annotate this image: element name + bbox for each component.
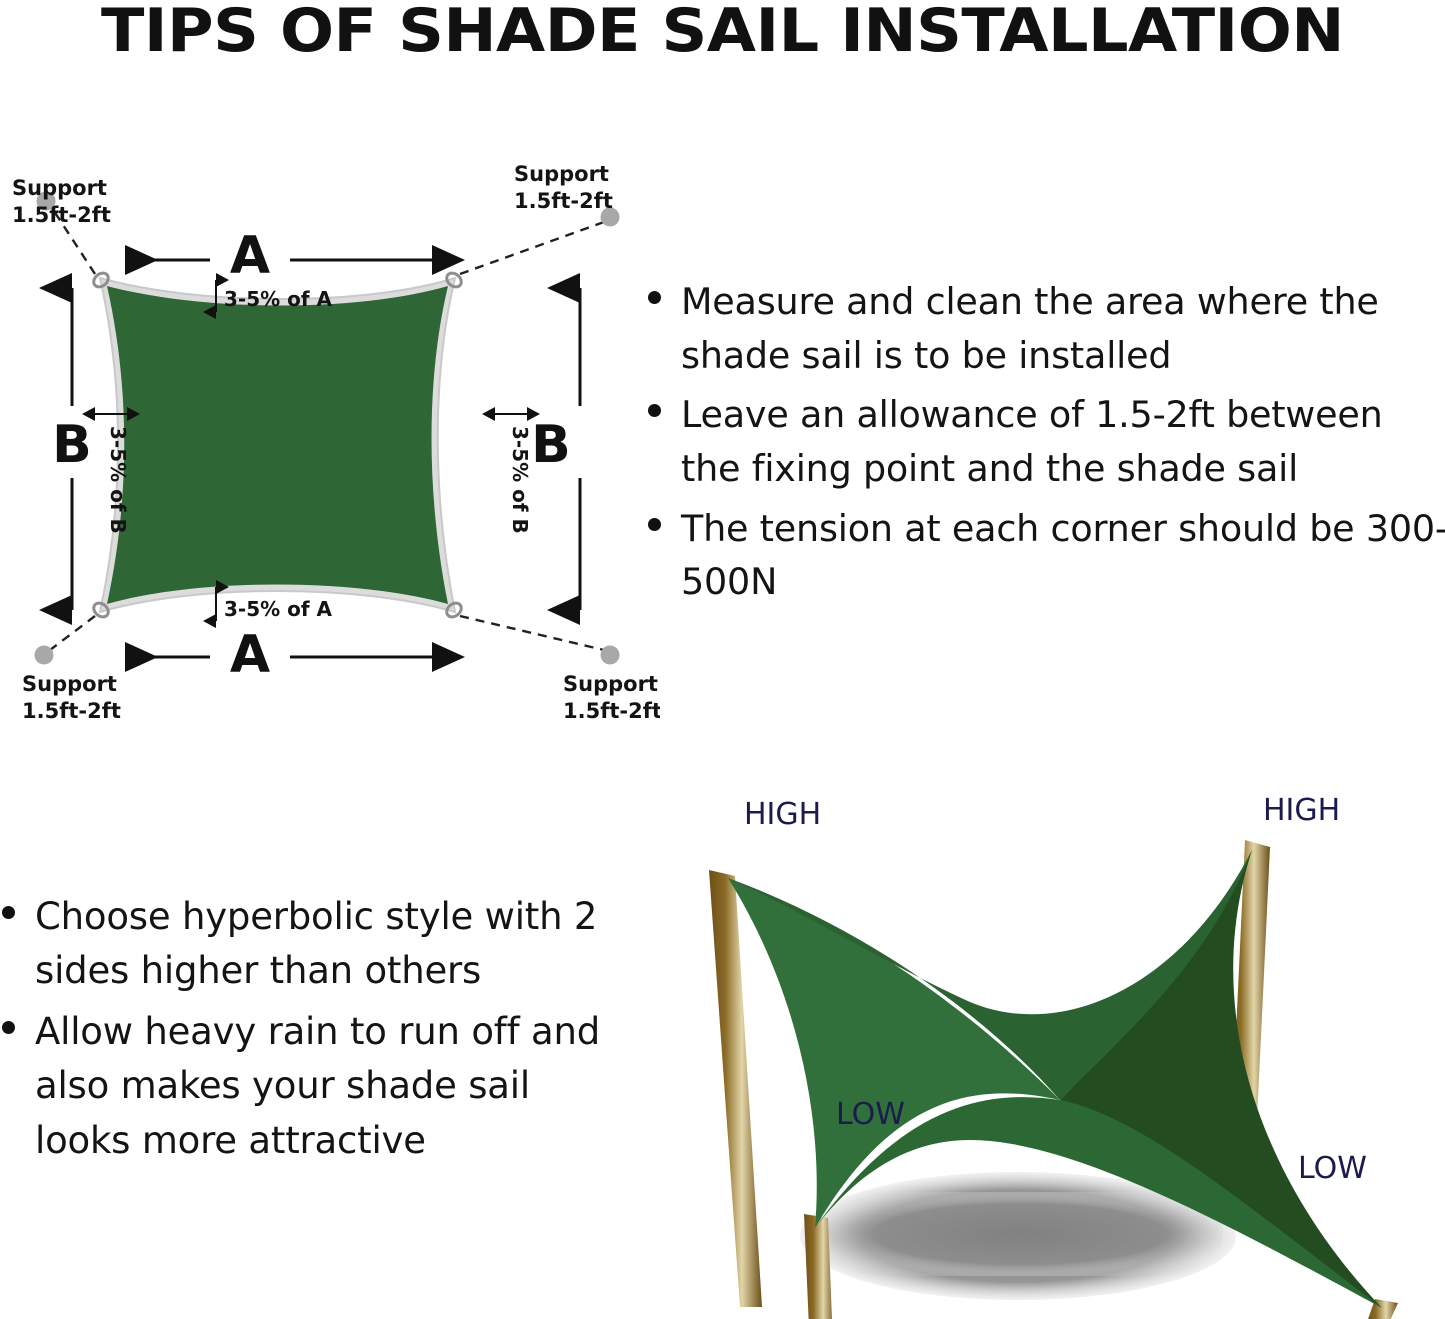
list-item: Leave an allowance of 1.5-2ft between th… xyxy=(648,388,1445,495)
label-high-left: HIGH xyxy=(744,797,821,832)
ground-shadow-body xyxy=(818,1192,1222,1276)
list-item: Measure and clean the area where the sha… xyxy=(648,275,1445,382)
pole-high-left[interactable] xyxy=(709,870,762,1307)
curve-label-top: 3-5% of A xyxy=(224,287,333,311)
support-label-top-left-line1: Support xyxy=(12,176,107,200)
hyperbolic-sail-svg: HIGH HIGH LOW LOW xyxy=(640,780,1445,1319)
curve-label-left: 3-5% of B xyxy=(106,426,130,534)
support-line-bottom-left xyxy=(50,616,95,650)
bullet-dot-icon xyxy=(648,291,661,304)
support-label-bottom-left-line2: 1.5ft-2ft xyxy=(22,699,121,723)
support-label-top-left-line2: 1.5ft-2ft xyxy=(12,203,111,227)
dim-label-A-bottom: A xyxy=(230,625,270,685)
list-item: Allow heavy rain to run off and also mak… xyxy=(2,1005,622,1168)
support-label-top-right-line2: 1.5ft-2ft xyxy=(514,189,613,213)
support-label-top-right-line1: Support xyxy=(514,162,609,186)
dim-label-A-top: A xyxy=(230,226,270,286)
curve-label-bottom: 3-5% of A xyxy=(224,597,333,621)
right-tips-list: Measure and clean the area where the sha… xyxy=(648,275,1445,615)
support-label-bottom-right-line2: 1.5ft-2ft xyxy=(563,699,660,723)
page-title: TIPS OF SHADE SAIL INSTALLATION xyxy=(0,0,1445,66)
tip-text: Choose hyperbolic style with 2 sides hig… xyxy=(35,890,622,999)
bullet-dot-icon xyxy=(2,1021,15,1034)
bullet-dot-icon xyxy=(648,518,661,531)
support-line-top-right xyxy=(460,222,604,274)
dim-label-B-left: B xyxy=(52,415,92,475)
sail-body-green xyxy=(107,286,448,604)
label-low-right: LOW xyxy=(1298,1151,1367,1186)
bullet-dot-icon xyxy=(2,906,15,919)
list-item: Choose hyperbolic style with 2 sides hig… xyxy=(2,890,622,999)
support-dot-bottom-left xyxy=(35,646,54,665)
support-line-bottom-right xyxy=(460,616,604,650)
left-tips-list: Choose hyperbolic style with 2 sides hig… xyxy=(2,890,622,1174)
support-dot-bottom-right xyxy=(601,646,620,665)
rectangle-sail-diagram: Support 1.5ft-2ft Support 1.5ft-2ft Supp… xyxy=(0,160,660,740)
curve-label-right: 3-5% of B xyxy=(508,426,532,534)
label-high-right: HIGH xyxy=(1263,793,1340,828)
support-label-bottom-right-line1: Support xyxy=(563,672,658,696)
bullet-dot-icon xyxy=(648,404,661,417)
dim-label-B-right: B xyxy=(531,415,571,475)
support-label-bottom-left-line1: Support xyxy=(22,672,117,696)
pole-low-right[interactable] xyxy=(1366,1299,1398,1319)
hyperbolic-sail-diagram: HIGH HIGH LOW LOW xyxy=(640,780,1445,1319)
tip-text: Allow heavy rain to run off and also mak… xyxy=(35,1005,622,1168)
label-low-left: LOW xyxy=(836,1097,905,1132)
tip-text: The tension at each corner should be 300… xyxy=(681,502,1445,609)
list-item: The tension at each corner should be 300… xyxy=(648,502,1445,609)
tip-text: Leave an allowance of 1.5-2ft between th… xyxy=(681,388,1445,495)
rectangle-sail-svg: Support 1.5ft-2ft Support 1.5ft-2ft Supp… xyxy=(0,160,660,740)
tip-text: Measure and clean the area where the sha… xyxy=(681,275,1445,382)
